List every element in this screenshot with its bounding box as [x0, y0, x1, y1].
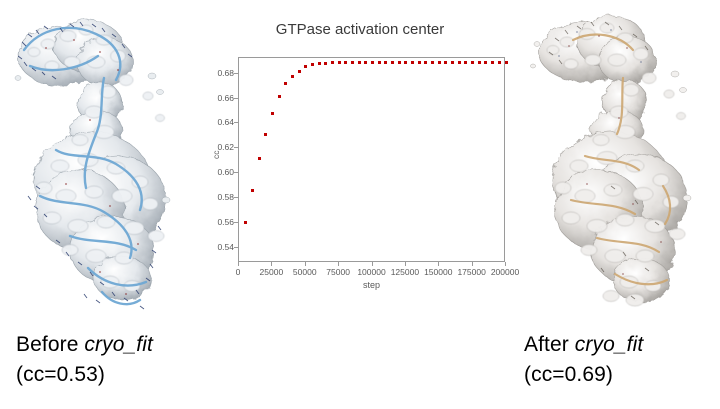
- data-point: [391, 61, 394, 64]
- caption-before-italic: cryo_fit: [84, 333, 153, 356]
- cc-vs-step-chart: GTPase activation center cc step 0.540.5…: [205, 8, 515, 298]
- caption-after-italic: cryo_fit: [575, 333, 644, 356]
- x-tick-mark: [405, 262, 406, 266]
- x-tick-mark: [338, 262, 339, 266]
- data-point: [258, 157, 261, 160]
- caption-before-line2: (cc=0.53): [16, 360, 153, 390]
- x-tick-mark: [305, 262, 306, 266]
- y-tick-label: 0.64: [205, 117, 234, 127]
- x-tick-label: 75000: [326, 267, 350, 277]
- x-tick-mark: [372, 262, 373, 266]
- data-point: [431, 61, 434, 64]
- data-point: [505, 61, 508, 64]
- x-tick-label: 200000: [491, 267, 519, 277]
- plot-frame: [238, 57, 505, 262]
- y-tick-mark: [234, 73, 238, 74]
- data-point: [498, 61, 501, 64]
- plot-area: [239, 58, 504, 261]
- x-tick-mark: [438, 262, 439, 266]
- x-axis-label: step: [238, 280, 505, 290]
- data-point: [244, 221, 247, 224]
- y-tick-label: 0.56: [205, 217, 234, 227]
- x-tick-label: 50000: [293, 267, 317, 277]
- x-tick-label: 100000: [357, 267, 385, 277]
- x-tick-label: 125000: [391, 267, 419, 277]
- data-point: [411, 61, 414, 64]
- data-point: [491, 61, 494, 64]
- data-point: [291, 75, 294, 78]
- data-point: [351, 61, 354, 64]
- structure-after-cryofit: [515, 0, 720, 320]
- data-point: [264, 133, 267, 136]
- data-point: [404, 61, 407, 64]
- data-point: [324, 62, 327, 65]
- data-point: [271, 112, 274, 115]
- chart-title: GTPase activation center: [205, 21, 515, 38]
- data-point: [251, 189, 254, 192]
- data-point: [318, 62, 321, 65]
- caption-before-line1: Before cryo_fit: [16, 330, 153, 360]
- data-point: [344, 61, 347, 64]
- data-point: [331, 61, 334, 64]
- data-point: [471, 61, 474, 64]
- data-point: [364, 61, 367, 64]
- data-point: [311, 63, 314, 66]
- y-tick-label: 0.58: [205, 192, 234, 202]
- caption-after-line1: After cryo_fit: [524, 330, 643, 360]
- y-tick-mark: [234, 197, 238, 198]
- caption-before-prefix: Before: [16, 333, 84, 356]
- y-tick-mark: [234, 247, 238, 248]
- y-tick-label: 0.66: [205, 93, 234, 103]
- x-tick-mark: [472, 262, 473, 266]
- x-tick-mark: [505, 262, 506, 266]
- data-point: [444, 61, 447, 64]
- data-point: [384, 61, 387, 64]
- data-point: [478, 61, 481, 64]
- caption-after: After cryo_fit (cc=0.69): [524, 330, 643, 390]
- data-point: [438, 61, 441, 64]
- y-tick-mark: [234, 147, 238, 148]
- data-point: [484, 61, 487, 64]
- data-point: [304, 65, 307, 68]
- data-point: [358, 61, 361, 64]
- y-tick-label: 0.54: [205, 242, 234, 252]
- caption-before: Before cryo_fit (cc=0.53): [16, 330, 153, 390]
- y-tick-mark: [234, 222, 238, 223]
- x-tick-mark: [238, 262, 239, 266]
- data-point: [451, 61, 454, 64]
- x-tick-label: 0: [236, 267, 241, 277]
- x-tick-label: 150000: [424, 267, 452, 277]
- y-tick-mark: [234, 172, 238, 173]
- data-point: [338, 61, 341, 64]
- y-tick-label: 0.62: [205, 142, 234, 152]
- caption-after-prefix: After: [524, 333, 575, 356]
- data-point: [284, 82, 287, 85]
- figure-stage: GTPase activation center cc step 0.540.5…: [0, 0, 720, 409]
- x-tick-label: 175000: [457, 267, 485, 277]
- y-tick-mark: [234, 98, 238, 99]
- y-tick-mark: [234, 122, 238, 123]
- data-point: [464, 61, 467, 64]
- data-point: [458, 61, 461, 64]
- caption-after-line2: (cc=0.69): [524, 360, 643, 390]
- data-point: [371, 61, 374, 64]
- x-tick-label: 25000: [260, 267, 284, 277]
- data-point: [424, 61, 427, 64]
- data-point: [378, 61, 381, 64]
- x-tick-mark: [271, 262, 272, 266]
- y-tick-label: 0.68: [205, 68, 234, 78]
- structure-before-cryofit: [0, 0, 205, 320]
- data-point: [278, 95, 281, 98]
- data-point: [398, 61, 401, 64]
- data-point: [298, 70, 301, 73]
- data-point: [418, 61, 421, 64]
- y-tick-label: 0.60: [205, 167, 234, 177]
